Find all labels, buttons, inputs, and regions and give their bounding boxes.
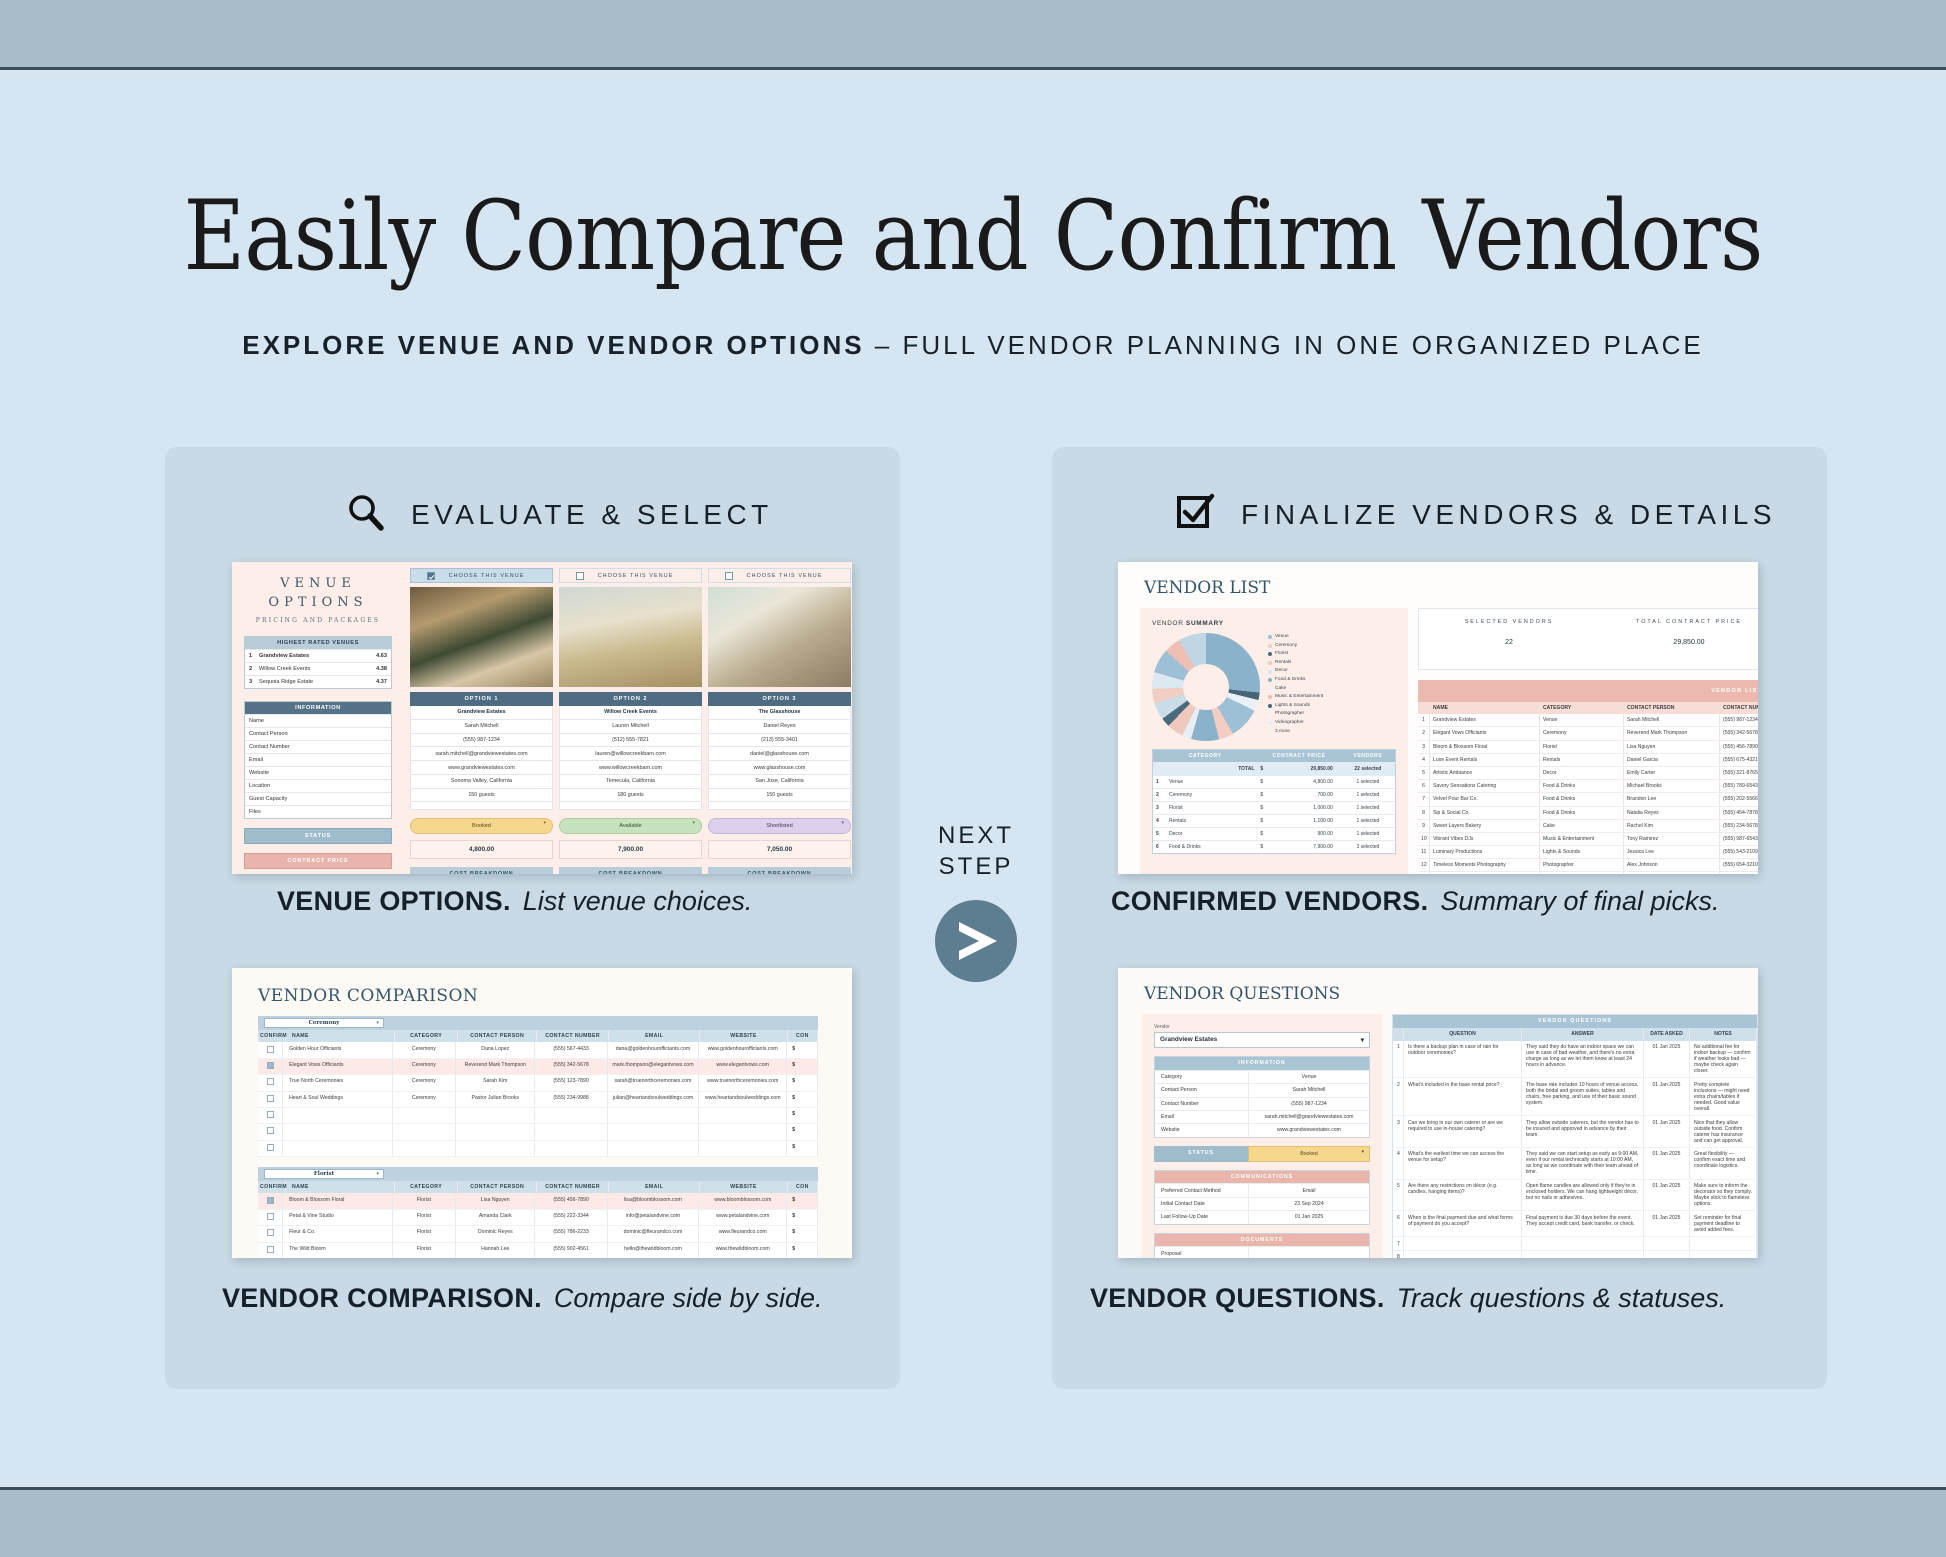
detail-label: Preferred Contact Method <box>1155 1184 1249 1196</box>
rated-score: 4.37 <box>376 679 387 685</box>
row-index: 5 <box>1393 1180 1404 1211</box>
confirm-checkbox[interactable] <box>267 1127 274 1134</box>
option-field: Sarah Mitchell <box>410 720 553 734</box>
detail-label: Initial Contact Date <box>1155 1198 1249 1210</box>
legend-item: Photographer <box>1268 710 1323 719</box>
col-date-asked: DATE ASKED <box>1644 1028 1690 1041</box>
cell-contact-number: (555) 342-5678 <box>535 1059 607 1074</box>
cell-website: www.fleurandco.com <box>699 1226 787 1241</box>
cell-contact-person: Jessica Lee <box>1624 846 1720 858</box>
price: 7,900.00 <box>1313 844 1332 850</box>
cell-notes: Great flexibility — confirm exact time a… <box>1690 1148 1757 1179</box>
row-index: 8 <box>1393 1251 1404 1258</box>
table-row: 4Luxe Event RentalsRentalsDaniel Garcia(… <box>1418 754 1758 767</box>
table-row: 8Sip & Social Co.Food & DrinksNatalia Re… <box>1418 807 1758 820</box>
cell-category: Florist <box>393 1243 457 1258</box>
row-index: 7 <box>1393 1237 1404 1250</box>
kpi-label: TOTAL CONTRACT PRICE <box>1599 619 1758 625</box>
confirm-checkbox[interactable] <box>267 1144 274 1151</box>
table-row: 2Elegant Vows OfficiantsCeremonyReverend… <box>1418 727 1758 740</box>
question-row: 5Are there any restrictions on décor (e.… <box>1393 1180 1757 1212</box>
information-header: INFORMATION <box>245 702 391 714</box>
cell-contract: $ <box>787 1042 818 1057</box>
price: 700.00 <box>1317 792 1332 798</box>
cell-contact-person: Alex Johnson <box>1624 859 1720 871</box>
cell-category: Venue <box>1540 714 1624 726</box>
legend-label: Decor <box>1275 667 1288 676</box>
table-row: 9Sweet Layers BakeryCakeRachel Kim(555) … <box>1418 820 1758 833</box>
detail-value: sarah.mitchell@grandviewestates.com <box>1249 1111 1369 1123</box>
price: 1,000.00 <box>1313 805 1332 811</box>
legend-item: Music & Entertainment <box>1268 693 1323 702</box>
cell-name: True North Ceremonies <box>283 1075 393 1090</box>
cell-website <box>699 1124 787 1139</box>
detail-label: Last Follow-Up Date <box>1155 1211 1249 1223</box>
comparison-group: CeremonyCONFIRMNAMECATEGORYCONTACT PERSO… <box>258 1016 818 1157</box>
cell-contact-person: Hannah Lee <box>456 1243 535 1258</box>
cell-name <box>283 1141 393 1156</box>
option-field: 180 guests <box>559 789 702 803</box>
col-contact-person: CONTACT PERSON <box>458 1181 537 1193</box>
screenshot-vendor-list[interactable]: VENDOR LIST VENDOR SUMMARY VenueCeremony… <box>1118 562 1758 874</box>
rated-row: 3Sequoia Ridge Estate4.37 <box>245 675 391 688</box>
vendor-list-band: VENDOR LIST <box>1418 680 1758 702</box>
rated-index: 1 <box>249 653 259 659</box>
legend-item: Videographer <box>1268 719 1323 728</box>
cell-category: 5Decor <box>1153 828 1257 840</box>
question-row: 4What's the earliest time we can access … <box>1393 1148 1757 1180</box>
cell-category: 2Ceremony <box>1153 789 1257 801</box>
detail-value: 23 Sep 2024 <box>1249 1198 1369 1210</box>
col-notes: NOTES <box>1690 1028 1757 1041</box>
row-index: 3 <box>1393 1116 1404 1147</box>
row-index: 7 <box>1418 793 1430 805</box>
cell-price: $1,100.00 <box>1257 815 1340 827</box>
detail-row: Initial Contact Date23 Sep 2024 <box>1155 1197 1369 1210</box>
confirm-cell <box>258 1092 283 1107</box>
choose-this-venue-row[interactable]: CHOOSE THIS VENUE <box>708 568 851 583</box>
legend-swatch <box>1268 713 1272 717</box>
cell-email <box>608 1108 700 1123</box>
vendor-questions-title: VENDOR QUESTIONS <box>1118 968 1758 1004</box>
cell-contact-number: (555) 456-7890 <box>1720 741 1758 753</box>
confirm-cell <box>258 1243 283 1258</box>
row-index: 6 <box>1156 844 1164 850</box>
table-row: 10Vibrant Vibes DJsMusic & Entertainment… <box>1418 833 1758 846</box>
cell-name: Timeless Moments Photography <box>1430 859 1540 871</box>
cell-category: Videographer <box>1540 872 1624 874</box>
cell-category: Ceremony <box>393 1092 457 1107</box>
cell-contact-number: (555) 234-9988 <box>535 1092 607 1107</box>
cell-vendors: 3 selected <box>1341 841 1395 853</box>
confirm-cell <box>258 1075 283 1090</box>
cell-name: Grandview Estates <box>1430 714 1540 726</box>
option-field: (555) 987-1234 <box>410 734 553 748</box>
cell-question: When is the final payment due and what f… <box>1404 1211 1522 1236</box>
venue-contract-price: 7,900.00 <box>559 840 702 859</box>
category-row: 2Ceremony$700.001 selected <box>1153 788 1395 801</box>
confirm-cell <box>258 1042 283 1057</box>
cell-contact-person: Lisa Nguyen <box>456 1193 535 1208</box>
choose-venue-checkbox[interactable] <box>725 572 733 580</box>
panel-left-header: EVALUATE & SELECT <box>345 492 773 537</box>
row-index: 6 <box>1393 1211 1404 1236</box>
cell-category: Photographer <box>1540 859 1624 871</box>
table-row: Petal & Vine StudioFloristAmanda Clark(5… <box>258 1210 818 1226</box>
communications-table: COMMUNICATIONS Preferred Contact MethodE… <box>1154 1170 1370 1225</box>
cell-notes: Make sure to inform the decorator so the… <box>1690 1180 1757 1211</box>
confirm-checkbox[interactable] <box>267 1062 274 1069</box>
question-row: 1Is there a backup plan in case of rain … <box>1393 1041 1757 1079</box>
cell-vendors: 1 selected <box>1341 802 1395 814</box>
category-row: 1Venue$4,800.001 selected <box>1153 775 1395 788</box>
cell-website: www.petalandvine.com <box>699 1210 787 1225</box>
venue-photo <box>559 587 702 687</box>
kpi-label: SELECTED VENDORS <box>1419 619 1599 625</box>
comparison-table-header: CONFIRMNAMECATEGORYCONTACT PERSONCONTACT… <box>258 1030 818 1042</box>
info-row: Website <box>245 766 391 779</box>
option-field: sarah.mitchell@grandviewestates.com <box>410 747 553 761</box>
status-row: STATUS Booked <box>1154 1146 1370 1162</box>
cell-name: Artistic Ambiance <box>1430 767 1540 779</box>
caption-confirmed-bold: CONFIRMED VENDORS. <box>1111 886 1428 916</box>
screenshot-venue-options[interactable]: VENUE OPTIONS PRICING AND PACKAGES HIGHE… <box>232 562 852 874</box>
table-row: True North CeremoniesCeremonySarah Kim(5… <box>258 1075 818 1091</box>
cell-category: Decor <box>1540 767 1624 779</box>
venue-title-line1: VENUE <box>244 576 392 591</box>
cell-category: 3Florist <box>1153 802 1257 814</box>
cell-question: Are there any restrictions on décor (e.g… <box>1404 1180 1522 1211</box>
legend-swatch <box>1268 687 1272 691</box>
venue-title-line2: OPTIONS <box>244 595 392 610</box>
venue-status-dropdown[interactable]: Available <box>559 818 702 834</box>
choose-venue-checkbox[interactable] <box>427 572 435 580</box>
confirm-checkbox[interactable] <box>267 1095 274 1102</box>
col-name: NAME <box>286 1030 395 1042</box>
option-band: OPTION 1 <box>410 692 553 706</box>
legend-swatch <box>1268 661 1272 665</box>
cell-name: The Wild Bloom <box>283 1243 393 1258</box>
caption-venue-options: VENUE OPTIONS.List venue choices. <box>277 886 752 917</box>
donut-legend: VenueCeremonyFloristRentalsDecorFood & D… <box>1268 633 1323 736</box>
cell-contract: $ <box>787 1226 818 1241</box>
info-row: Location <box>245 779 391 792</box>
row-index: 3 <box>1156 805 1164 811</box>
cell-contact-number <box>535 1124 607 1139</box>
caption-vendor-questions: VENDOR QUESTIONS.Track questions & statu… <box>1090 1283 1726 1314</box>
venue-status-dropdown[interactable]: Shortlisted <box>708 818 851 834</box>
cell-contract: $ <box>787 1059 818 1074</box>
table-row: $ <box>258 1124 818 1140</box>
col-question: QUESTION <box>1404 1028 1522 1041</box>
legend-label: Rentals <box>1275 659 1291 668</box>
info-label: Name <box>249 718 387 724</box>
vendor-field-label: Vendor <box>1154 1024 1370 1030</box>
confirm-cell <box>258 1124 283 1139</box>
option-field: www.willowcreekbarn.com <box>559 761 702 775</box>
confirm-checkbox[interactable] <box>267 1213 274 1220</box>
option-field: Temecula, California <box>559 775 702 789</box>
cell-category: Ceremony <box>1540 727 1624 739</box>
cell-name: Sip & Social Co. <box>1430 807 1540 819</box>
cell-email <box>608 1124 700 1139</box>
questions-table-header: QUESTION ANSWER DATE ASKED NOTES <box>1393 1028 1757 1041</box>
cell-price: $7,900.00 <box>1257 841 1340 853</box>
vendor-list-title: VENDOR LIST <box>1118 562 1758 598</box>
documents-header: DOCUMENTS <box>1155 1234 1369 1247</box>
cell-website: www.goldenhourofficiants.com <box>699 1042 787 1057</box>
detail-row: Websitewww.grandviewestates.com <box>1155 1123 1369 1136</box>
rated-index: 3 <box>249 679 259 685</box>
cell-vendors: 1 selected <box>1341 828 1395 840</box>
detail-value: Venue <box>1249 1071 1369 1083</box>
info-row: Files <box>245 805 391 818</box>
cell-email: julian@heartandsoulweddings.com <box>608 1092 700 1107</box>
option-field: (512) 555-7821 <box>559 734 702 748</box>
caption-questions-bold: VENDOR QUESTIONS. <box>1090 1283 1385 1313</box>
cell-contact-person: Reverend Mark Thompson <box>1624 727 1720 739</box>
table-row: Bloom & Blossom FloralFloristLisa Nguyen… <box>258 1193 818 1209</box>
col-website: WEBSITE <box>700 1181 788 1193</box>
col-name: NAME <box>1430 702 1540 714</box>
option-field: Grandview Estates <box>410 706 553 720</box>
confirm-checkbox[interactable] <box>267 1078 274 1085</box>
cell-contact-person: Lisa Nguyen <box>1624 741 1720 753</box>
cell-contact-number: (555) 234-5678 <box>1720 820 1758 832</box>
detail-label: Category <box>1155 1071 1249 1083</box>
status-bar: STATUS <box>244 828 392 844</box>
venue-photo <box>708 587 851 687</box>
cell-contact-person: Amanda Clark <box>456 1210 535 1225</box>
legend-label: 3 more <box>1275 728 1290 737</box>
contract-price-bar: CONTRACT PRICE <box>244 853 392 869</box>
rated-name: Willow Creek Events <box>259 666 376 672</box>
panel-left-label: EVALUATE & SELECT <box>411 499 773 531</box>
option-field: (213) 555-3401 <box>708 734 851 748</box>
venue-status-dropdown[interactable]: Booked <box>410 818 553 834</box>
category-name: Florist <box>1169 805 1183 811</box>
price: 4,800.00 <box>1313 779 1332 785</box>
info-row: Contact Person <box>245 727 391 740</box>
rated-name: Grandview Estates <box>259 653 376 659</box>
cell-notes: No additional fee for indoor backup — co… <box>1690 1041 1757 1078</box>
status-label: STATUS <box>1154 1146 1248 1162</box>
option-field: Daniel Reyes <box>708 720 851 734</box>
price: 1,100.00 <box>1313 818 1332 824</box>
caption-questions-italic: Track questions & statuses. <box>1397 1283 1727 1313</box>
info-label: Email <box>249 757 387 763</box>
cell-contact-person: Dominic Reyes <box>456 1226 535 1241</box>
caption-compare-bold: VENDOR COMPARISON. <box>222 1283 542 1313</box>
option-field: Sonoma Valley, California <box>410 775 553 789</box>
col-confirm: CONFIRM <box>258 1181 286 1193</box>
detail-value: Sarah Mitchell <box>1249 1084 1369 1096</box>
confirm-checkbox[interactable] <box>267 1046 274 1053</box>
cell-answer: The base rate includes 10 hours of venue… <box>1522 1078 1644 1115</box>
legend-swatch <box>1268 670 1272 674</box>
row-index: 4 <box>1418 754 1430 766</box>
category-total-row: TOTAL $29,850.00 22 selected <box>1153 762 1395 775</box>
confirm-checkbox[interactable] <box>267 1229 274 1236</box>
cell-category: Florist <box>1540 741 1624 753</box>
venue-option-column: CHOOSE THIS VENUEOPTION 3The GlasshouseD… <box>708 568 851 874</box>
legend-swatch <box>1268 695 1272 699</box>
cell-contact-person <box>456 1108 535 1123</box>
vendor-questions-table: VENDOR QUESTIONS QUESTION ANSWER DATE AS… <box>1392 1014 1758 1258</box>
communications-header: COMMUNICATIONS <box>1155 1171 1369 1184</box>
cell-notes <box>1690 1251 1757 1258</box>
col-email: EMAIL <box>609 1181 700 1193</box>
cell-date-asked: 01 Jan 2025 <box>1644 1041 1690 1078</box>
cell-email: sarah@truenorthceremonies.com <box>608 1075 700 1090</box>
table-row: 7Velvet Pour Bar Co.Food & DrinksBrandon… <box>1418 793 1758 806</box>
legend-label: Florist <box>1275 650 1288 659</box>
detail-label: Email <box>1155 1111 1249 1123</box>
option-field: daniel@glasshouse.com <box>708 747 851 761</box>
cell-website: www.heartandsoulweddings.com <box>699 1092 787 1107</box>
venue-option-column: CHOOSE THIS VENUEOPTION 2Willow Creek Ev… <box>559 568 702 874</box>
cell-contact-number: (555) 321-8765 <box>1720 767 1758 779</box>
legend-label: Ceremony <box>1275 642 1297 651</box>
currency: $ <box>1260 844 1263 850</box>
category-filter-select[interactable]: Ceremony <box>264 1018 384 1028</box>
rated-score: 4.38 <box>376 666 387 672</box>
option-field: The Glasshouse <box>708 706 851 720</box>
confirm-cell <box>258 1193 283 1208</box>
question-row: 2What's included in the base rental pric… <box>1393 1078 1757 1116</box>
page-title: Easily Compare and Confirm Vendors <box>117 180 1829 292</box>
cell-vendors: 1 selected <box>1341 776 1395 788</box>
cell-email: mark.thompson@elegantvows.com <box>608 1059 700 1074</box>
magnifier-icon <box>345 492 385 537</box>
cell-category: 6Food & Drinks <box>1153 841 1257 853</box>
category-name: Food & Drinks <box>1169 844 1201 850</box>
cell-contact-person: Rachel Kim <box>1624 820 1720 832</box>
table-row: $ <box>258 1141 818 1157</box>
cell-category: Rentals <box>1540 754 1624 766</box>
top-frame-bar <box>0 0 1946 70</box>
cell-category: Lights & Sounds <box>1540 846 1624 858</box>
cell-vendors: 1 selected <box>1341 815 1395 827</box>
cost-breakdown-band: COST BREAKDOWN <box>559 867 702 874</box>
venue-options-sidebar: VENUE OPTIONS PRICING AND PACKAGES HIGHE… <box>232 562 404 874</box>
row-index: 8 <box>1418 807 1430 819</box>
table-row: Elegant Vows OfficiantsCeremonyReverend … <box>258 1059 818 1075</box>
currency: $ <box>1260 779 1263 785</box>
cell-category: Florist <box>393 1193 457 1208</box>
cell-category: 4Rentals <box>1153 815 1257 827</box>
venue-contract-price: 7,050.00 <box>708 840 851 859</box>
table-row: 3Bloom & Blossom FloralFloristLisa Nguye… <box>1418 741 1758 754</box>
legend-item: 3 more <box>1268 728 1323 737</box>
cell-contract: $ <box>787 1092 818 1107</box>
screenshot-vendor-comparison[interactable]: VENDOR COMPARISON CeremonyCONFIRMNAMECAT… <box>232 968 852 1258</box>
cell-name: Golden Hour Officiants <box>283 1042 393 1057</box>
cell-answer: They said they do have an indoor space w… <box>1522 1041 1644 1078</box>
table-row: Golden Hour OfficiantsCeremonyDana Lopez… <box>258 1042 818 1058</box>
cell-contact-number: (555) 876-5432 <box>1720 872 1758 874</box>
option-field <box>559 802 702 810</box>
currency: $ <box>1260 831 1263 837</box>
choose-venue-label: CHOOSE THIS VENUE <box>435 573 552 579</box>
cell-contact-person <box>456 1141 535 1156</box>
cell-contact-person: Emily Carter <box>1624 767 1720 779</box>
page-subtitle: EXPLORE VENUE AND VENDOR OPTIONS – FULL … <box>0 330 1946 361</box>
price: 900.00 <box>1317 831 1332 837</box>
row-index: 9 <box>1418 820 1430 832</box>
col-category: CATEGORY <box>395 1030 458 1042</box>
subtitle-rest: – FULL VENDOR PLANNING IN ONE ORGANIZED … <box>865 330 1704 360</box>
vendor-detail-card: Vendor Grandview Estates▾ INFORMATION Ca… <box>1142 1014 1382 1258</box>
table-row: $ <box>258 1108 818 1124</box>
col-contract-price: CONTRACT PRICE <box>1257 750 1340 762</box>
panel-right-header: FINALIZE VENDORS & DETAILS <box>1175 492 1776 537</box>
cell-contact-person: Tony Ramirez <box>1624 833 1720 845</box>
category-name: Venue <box>1169 779 1183 785</box>
cell-category: Florist <box>393 1210 457 1225</box>
category-filter-select[interactable]: Florist <box>264 1169 384 1179</box>
col-index <box>1418 702 1430 714</box>
rated-score: 4.63 <box>376 653 387 659</box>
question-row: 6When is the final payment due and what … <box>1393 1211 1757 1237</box>
category-row: 6Food & Drinks$7,900.003 selected <box>1153 840 1395 853</box>
total-label: TOTAL <box>1238 766 1254 772</box>
status-dropdown[interactable]: Booked <box>1248 1146 1370 1162</box>
confirm-cell <box>258 1210 283 1225</box>
cell-notes: Nice that they allow outside food. Confi… <box>1690 1116 1757 1147</box>
legend-swatch <box>1268 704 1272 708</box>
bottom-frame-bar <box>0 1487 1946 1557</box>
cell-contract: $ <box>787 1075 818 1090</box>
choose-this-venue-row[interactable]: CHOOSE THIS VENUE <box>410 568 553 583</box>
next-step-arrow-icon[interactable] <box>935 900 1017 982</box>
cell-notes <box>1690 1237 1757 1250</box>
cell-date-asked: 01 Jan 2025 <box>1644 1211 1690 1236</box>
vendor-select[interactable]: Grandview Estates▾ <box>1154 1032 1370 1048</box>
info-row: Name <box>245 714 391 727</box>
cell-date-asked: 01 Jan 2025 <box>1644 1078 1690 1115</box>
confirm-checkbox[interactable] <box>267 1197 274 1204</box>
cell-email: dana@goldenhourofficiants.com <box>608 1042 700 1057</box>
confirm-checkbox[interactable] <box>267 1246 274 1253</box>
comparison-table-header: CONFIRMNAMECATEGORYCONTACT PERSONCONTACT… <box>258 1181 818 1193</box>
cell-category: Cake <box>1540 820 1624 832</box>
table-row: 5Artistic AmbianceDecorEmily Carter(555)… <box>1418 767 1758 780</box>
cell-name: Savory Sensations Catering <box>1430 780 1540 792</box>
option-field <box>708 802 851 810</box>
row-index: 1 <box>1418 714 1430 726</box>
cell-question: What's the earliest time we can access t… <box>1404 1148 1522 1179</box>
col-answer: ANSWER <box>1522 1028 1644 1041</box>
cell-website: www.thewildbloom.com <box>699 1243 787 1258</box>
cell-category: Ceremony <box>393 1042 457 1057</box>
next-step-line1: NEXT <box>916 820 1036 851</box>
cell-contact-number: (555) 543-2109 <box>1720 846 1758 858</box>
cell-price: $4,800.00 <box>1257 776 1340 788</box>
cell-contract: $ <box>787 1193 818 1208</box>
choose-venue-checkbox[interactable] <box>576 572 584 580</box>
choose-this-venue-row[interactable]: CHOOSE THIS VENUE <box>559 568 702 583</box>
cell-contact-person: Reverend Mark Thompson <box>456 1059 535 1074</box>
choose-venue-label: CHOOSE THIS VENUE <box>733 573 850 579</box>
confirm-checkbox[interactable] <box>267 1111 274 1118</box>
venue-photo <box>410 587 553 687</box>
col-contact-number: CONTACT NUMBER <box>537 1181 609 1193</box>
questions-band: VENDOR QUESTIONS <box>1393 1015 1757 1028</box>
screenshot-vendor-questions[interactable]: VENDOR QUESTIONS Vendor Grandview Estate… <box>1118 968 1758 1258</box>
col-contract: CON <box>788 1030 818 1042</box>
row-index: 12 <box>1418 859 1430 871</box>
